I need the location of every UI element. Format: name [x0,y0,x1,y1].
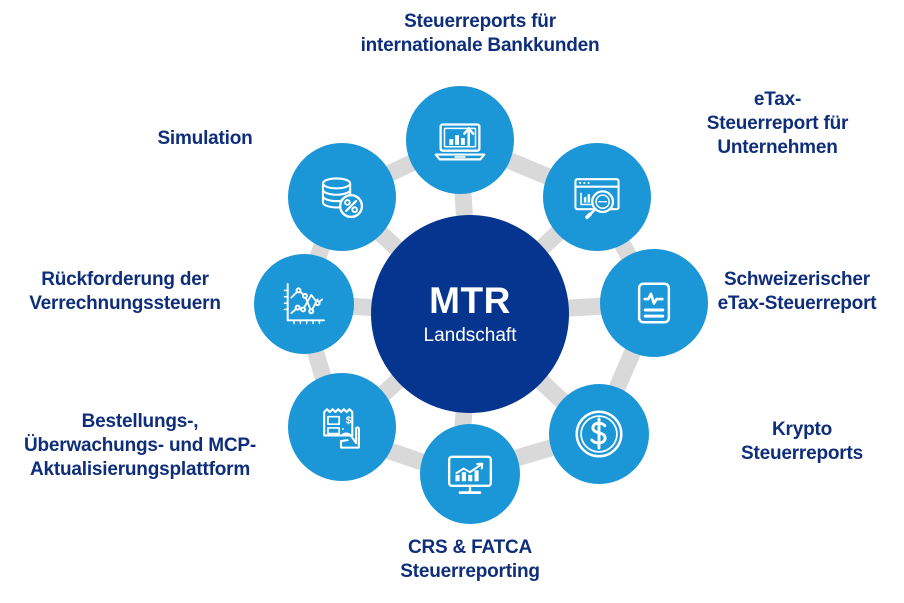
node-crs-fatca-reporting[interactable] [420,424,520,524]
center-title: MTR [429,281,511,321]
node-etax-report-companies[interactable] [543,143,651,251]
node-international-bank-clients[interactable] [406,86,514,194]
node-order-monitoring-mcp-platform[interactable]: $ [288,373,396,481]
svg-text:$: $ [346,415,352,426]
center-subtitle: Landschaft [424,324,517,348]
hand-receipt-icon: $ [312,397,372,457]
laptop-bar-chart-arrow-icon [429,109,491,171]
document-pulse-icon [626,275,682,331]
monitor-bar-chart-icon [441,445,499,503]
coins-percent-icon [313,168,371,226]
dollar-coin-icon [568,403,630,465]
node-crypto-tax-reports[interactable] [549,384,649,484]
label-crypto-tax-reports: Krypto Steuerreports [700,418,904,466]
label-international-bank-clients: Steuerreports für internationale Bankkun… [330,10,630,58]
label-crs-fatca-reporting: CRS & FATCA Steuerreporting [350,536,590,584]
node-withholding-tax-reclaim[interactable] [254,254,354,354]
label-swiss-etax-report: Schweizerischer eTax-Steuerreport [690,268,904,316]
browser-chart-magnifier-icon [567,167,627,227]
label-etax-report-companies: eTax- Steuerreport für Unternehmen [665,88,890,160]
label-simulation: Simulation [110,127,300,151]
node-simulation[interactable] [288,143,396,251]
diagram-canvas: MTR Landschaft Steuerreports für interna… [0,0,904,603]
center-hub: MTR Landschaft [371,215,569,413]
label-withholding-tax-reclaim: Rückforderung der Verrechnungssteuern [0,268,250,316]
line-graph-icon [275,275,333,333]
label-order-monitoring-mcp-platform: Bestellungs-, Überwachungs- und MCP- Akt… [0,410,280,482]
